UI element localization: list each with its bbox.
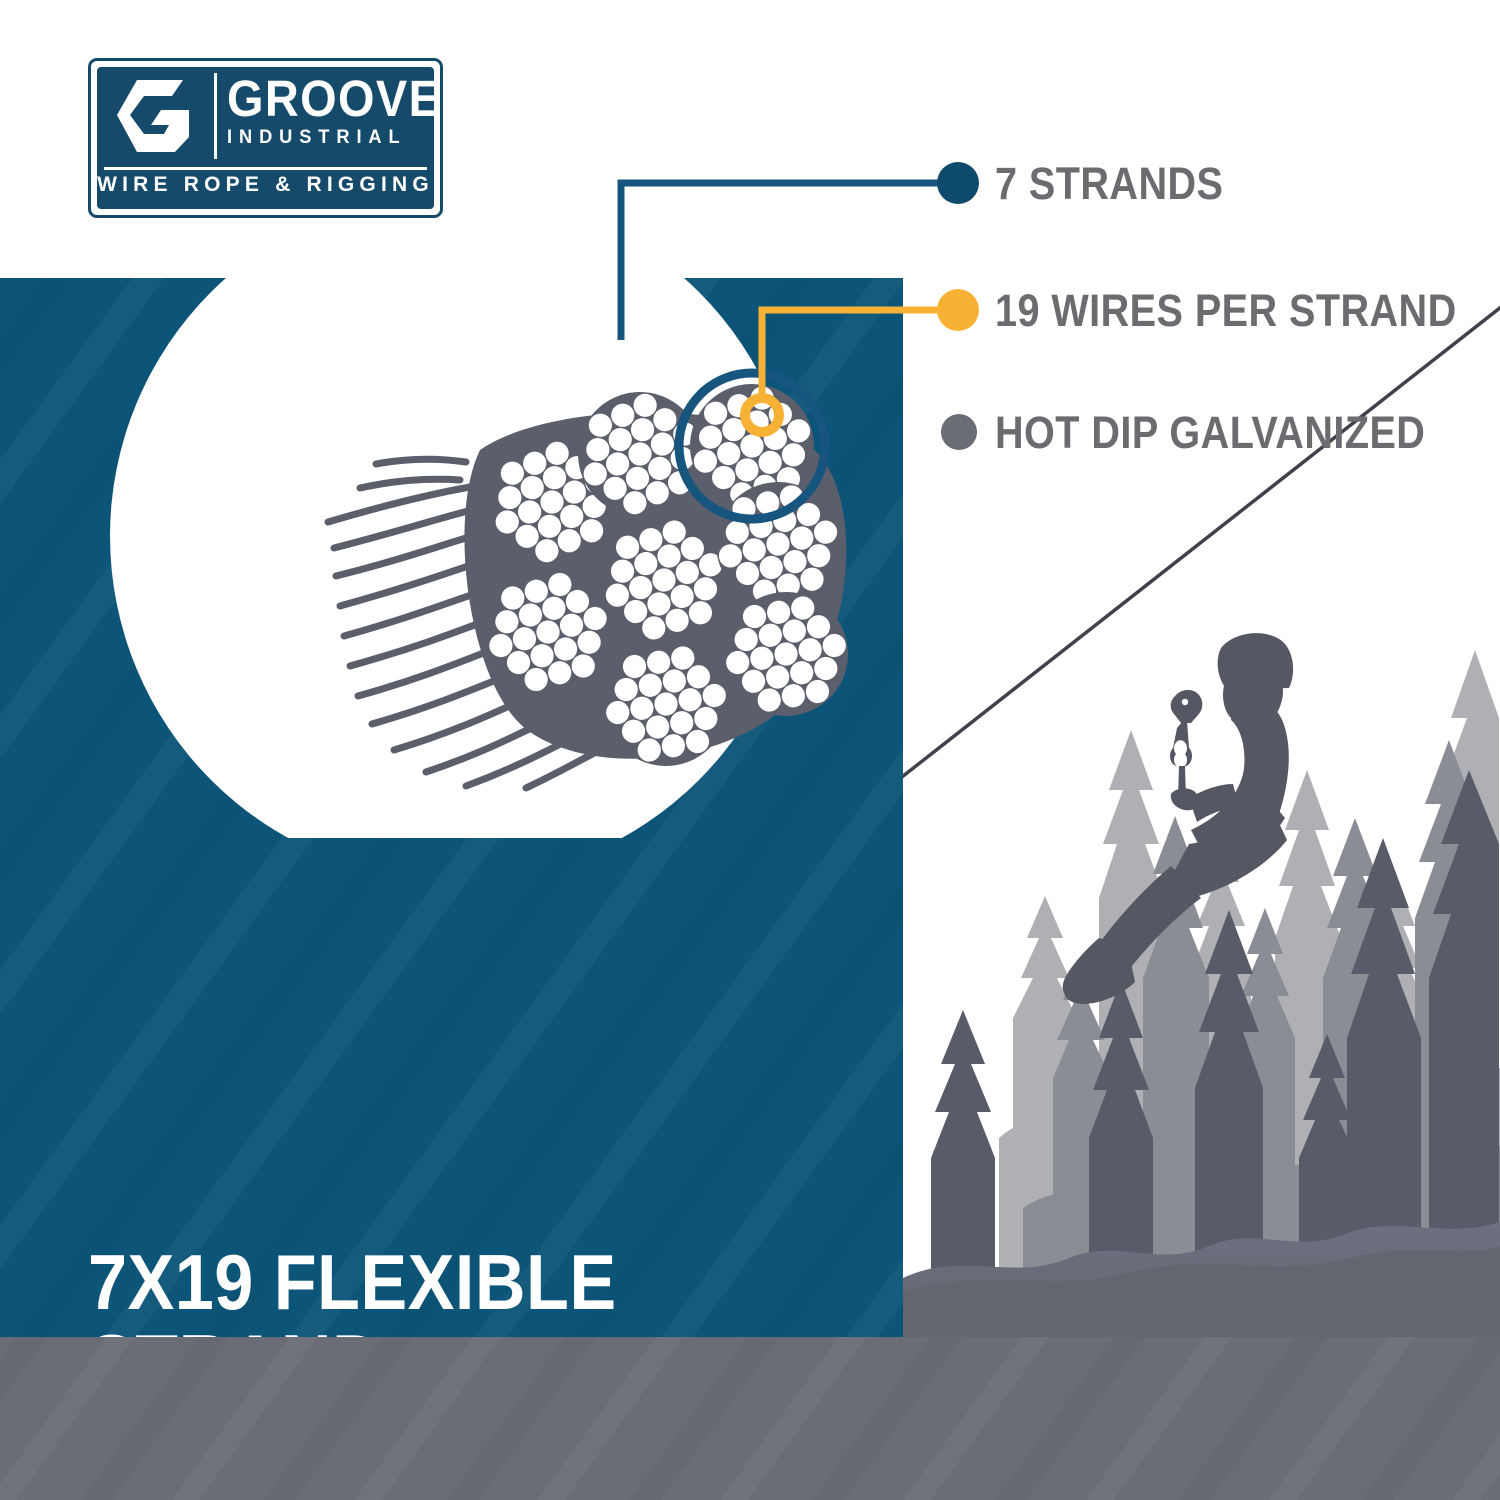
callout-dot-galvanized[interactable] — [941, 414, 977, 450]
logo-divider — [214, 73, 217, 159]
infographic-canvas: 7X19 FLEXIBLE STRAND CONSTRUCTION Our ai… — [0, 0, 1500, 1500]
leader-line-wires — [762, 310, 955, 400]
logo-brand-name: GROOVE — [227, 73, 411, 125]
callout-dot-wires[interactable] — [937, 289, 979, 331]
wire-target-ring-icon — [745, 398, 779, 432]
callout-dot-strands[interactable] — [937, 162, 979, 204]
callout-label-galvanized: HOT DIP GALVANIZED — [995, 407, 1425, 459]
callout-label-strands: 7 STRANDS — [995, 158, 1223, 210]
headline-line-1: 7X19 FLEXIBLE — [88, 1238, 617, 1326]
leader-line-strands — [621, 183, 955, 340]
logo-wordmark: GROOVE INDUSTRIAL — [227, 73, 427, 151]
bottom-bar — [0, 1337, 1500, 1500]
logo-rule — [104, 167, 427, 170]
logo-inner-plate: GROOVE INDUSTRIAL WIRE ROPE & RIGGING — [97, 67, 434, 209]
callout-label-wires: 19 WIRES PER STRAND — [995, 285, 1457, 337]
logo-tagline: WIRE ROPE & RIGGING — [97, 173, 434, 197]
groove-g-hexagon-icon — [97, 67, 214, 164]
logo-brand-subtitle: INDUSTRIAL — [227, 125, 419, 151]
page-title: 7X19 FLEXIBLE STRAND CONSTRUCTION — [88, 1242, 799, 1338]
bottom-bar-stripe-texture — [0, 1337, 1500, 1500]
brand-logo[interactable]: GROOVE INDUSTRIAL WIRE ROPE & RIGGING — [88, 58, 443, 218]
